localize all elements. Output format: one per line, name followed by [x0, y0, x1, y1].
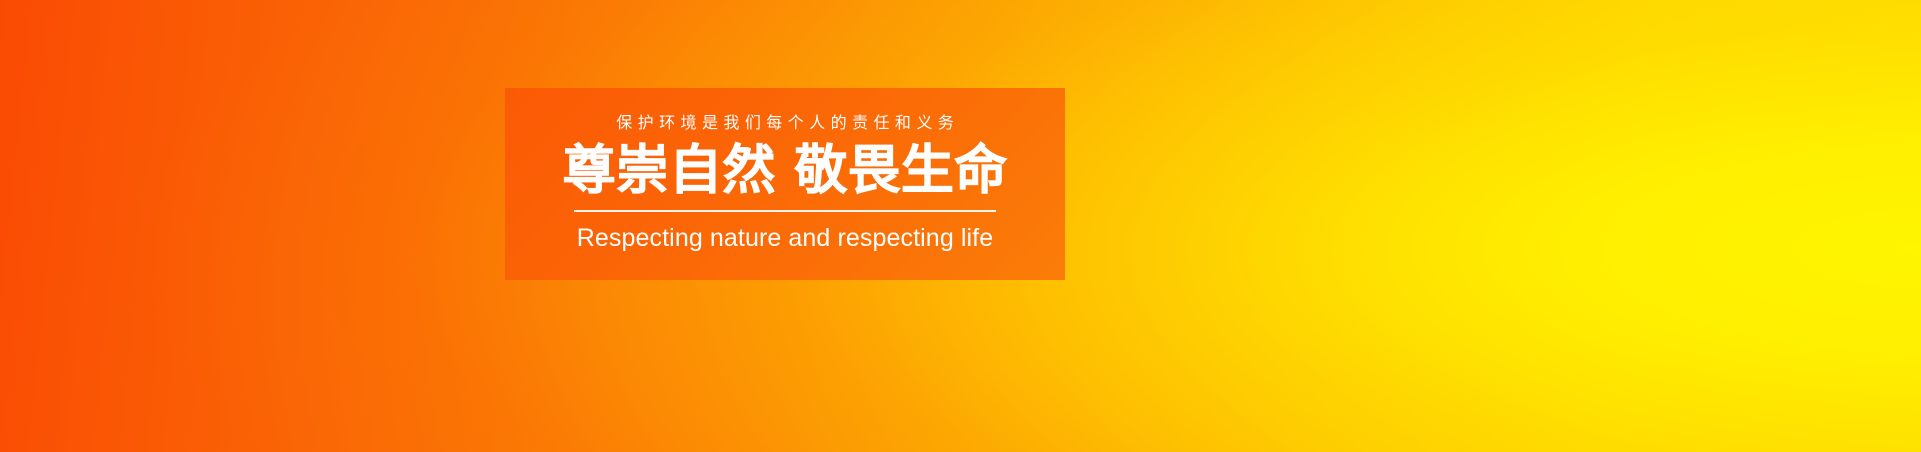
tagline-text: Respecting nature and respecting life [577, 225, 993, 253]
environmental-slogan-banner: 保护环境是我们每个人的责任和义务 尊崇自然 敬畏生命 Respecting na… [0, 0, 1921, 452]
eyebrow-text: 保护环境是我们每个人的责任和义务 [611, 115, 959, 131]
slogan-card: 保护环境是我们每个人的责任和义务 尊崇自然 敬畏生命 Respecting na… [505, 88, 1065, 280]
headline-text: 尊崇自然 敬畏生命 [563, 143, 1008, 198]
slogan-card-content: 保护环境是我们每个人的责任和义务 尊崇自然 敬畏生命 Respecting na… [505, 115, 1065, 253]
divider-rule [574, 210, 996, 212]
